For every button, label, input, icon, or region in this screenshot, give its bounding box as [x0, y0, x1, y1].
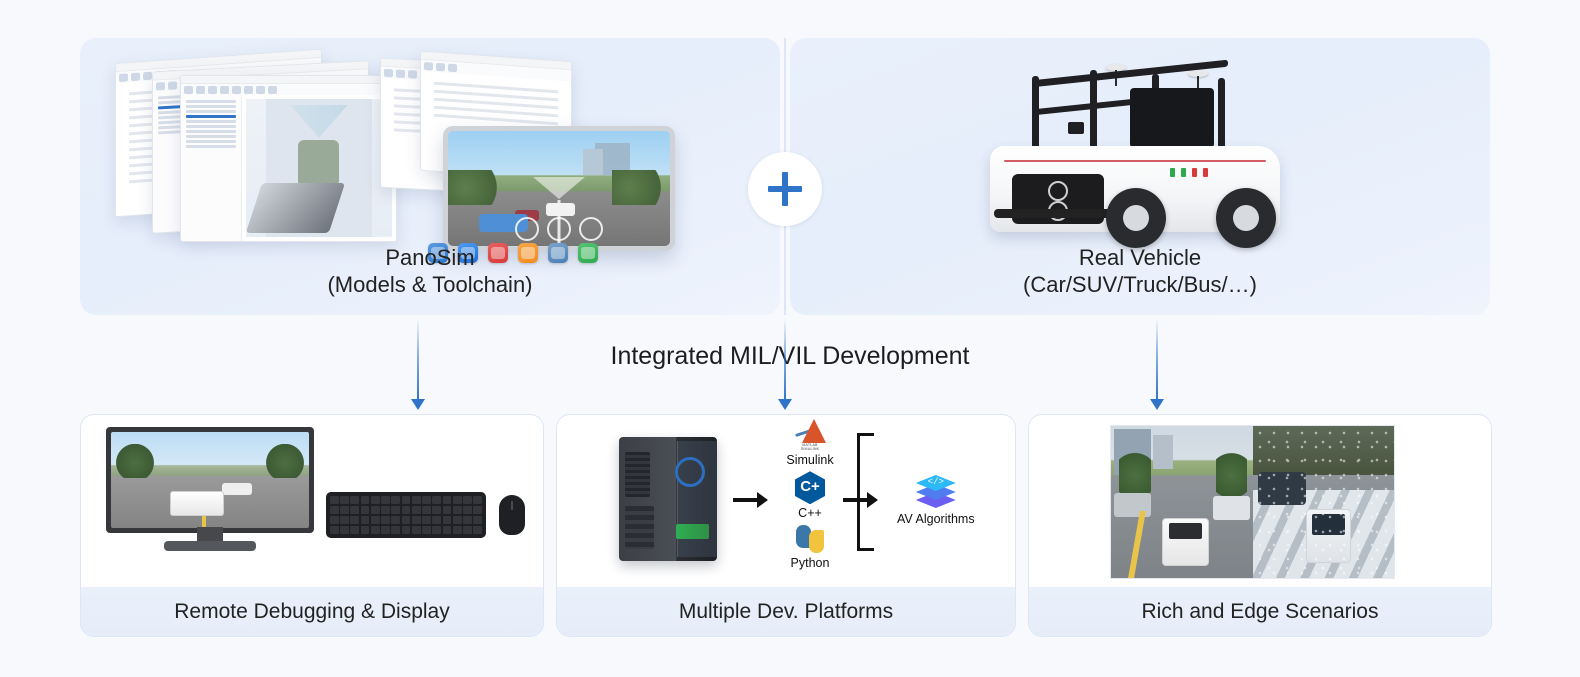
card-panosim-title-line1: PanoSim [80, 245, 780, 272]
av-algorithms-icon: </> [916, 475, 956, 509]
card-remote-debugging-caption: Remote Debugging & Display [81, 587, 543, 636]
mouse-icon [499, 495, 525, 535]
scenario-urban-daytime [1111, 426, 1253, 578]
cpp-icon-glyph: C+ [800, 478, 820, 495]
simulation-screen [111, 432, 309, 528]
arrow-down-left-icon [417, 318, 419, 400]
tool-cpp-label: C++ [798, 506, 822, 520]
card-dev-platforms[interactable]: MATLAB SIMULINK Simulink C+ C++ [556, 414, 1016, 637]
app-window-screenshot [180, 75, 397, 242]
plus-icon [748, 152, 822, 226]
scenario-snow-road [1253, 426, 1395, 578]
card-panosim-title: PanoSim (Models & Toolchain) [80, 245, 780, 299]
tablet-device [443, 126, 675, 251]
card-panosim[interactable]: PanoSim (Models & Toolchain) [80, 38, 780, 315]
integrated-development-label: Integrated MIL/VIL Development [0, 342, 1580, 371]
card-dev-platforms-caption: Multiple Dev. Platforms [557, 587, 1015, 636]
monitor-icon [106, 427, 314, 551]
matlab-mark-line2: SIMULINK [801, 447, 820, 451]
keyboard-icon [326, 492, 486, 538]
status-led-strip [1170, 168, 1208, 177]
tool-simulink-label: Simulink [786, 453, 833, 467]
scenarios-visual [1029, 415, 1491, 587]
remote-debugging-visual [81, 415, 543, 587]
arrow-right-icon [733, 492, 768, 508]
scenario-image-pair [1110, 425, 1395, 579]
av-algorithms-node[interactable]: </> AV Algorithms [897, 475, 975, 526]
python-icon [795, 524, 825, 554]
card-scenarios[interactable]: Rich and Edge Scenarios [1028, 414, 1492, 637]
dev-platforms-visual: MATLAB SIMULINK Simulink C+ C++ [557, 415, 1015, 587]
matlab-simulink-icon: MATLAB SIMULINK [793, 419, 827, 451]
tool-simulink[interactable]: MATLAB SIMULINK Simulink [775, 419, 845, 467]
wheel [1106, 188, 1166, 248]
card-real-vehicle-title: Real Vehicle (Car/SUV/Truck/Bus/…) [790, 245, 1490, 299]
tool-python[interactable]: Python [775, 524, 845, 570]
autonomous-shuttle-illustration [980, 64, 1310, 254]
toolchain-list: MATLAB SIMULINK Simulink C+ C++ [775, 419, 845, 574]
card-real-vehicle-title-line2: (Car/SUV/Truck/Bus/…) [790, 272, 1490, 299]
driving-simulation-view [448, 131, 670, 246]
arrow-right-icon [843, 492, 878, 508]
card-real-vehicle-title-line1: Real Vehicle [790, 245, 1490, 272]
panosim-screenshot-montage [80, 38, 780, 253]
tool-cpp[interactable]: C+ C++ [775, 471, 845, 520]
card-real-vehicle[interactable]: Real Vehicle (Car/SUV/Truck/Bus/…) [790, 38, 1490, 315]
card-scenarios-caption: Rich and Edge Scenarios [1029, 587, 1491, 636]
cpp-icon: C+ [795, 471, 825, 504]
diagram-canvas: PanoSim (Models & Toolchain) [0, 0, 1580, 677]
arrow-down-right-icon [1156, 318, 1158, 400]
wheel [1216, 188, 1276, 248]
pc-tower-icon [619, 437, 717, 561]
av-algorithms-label: AV Algorithms [897, 512, 975, 526]
av-algorithms-icon-glyph: </> [928, 477, 944, 487]
tool-python-label: Python [791, 556, 830, 570]
card-remote-debugging[interactable]: Remote Debugging & Display [80, 414, 544, 637]
arrow-down-middle-icon [784, 318, 786, 400]
card-panosim-title-line2: (Models & Toolchain) [80, 272, 780, 299]
